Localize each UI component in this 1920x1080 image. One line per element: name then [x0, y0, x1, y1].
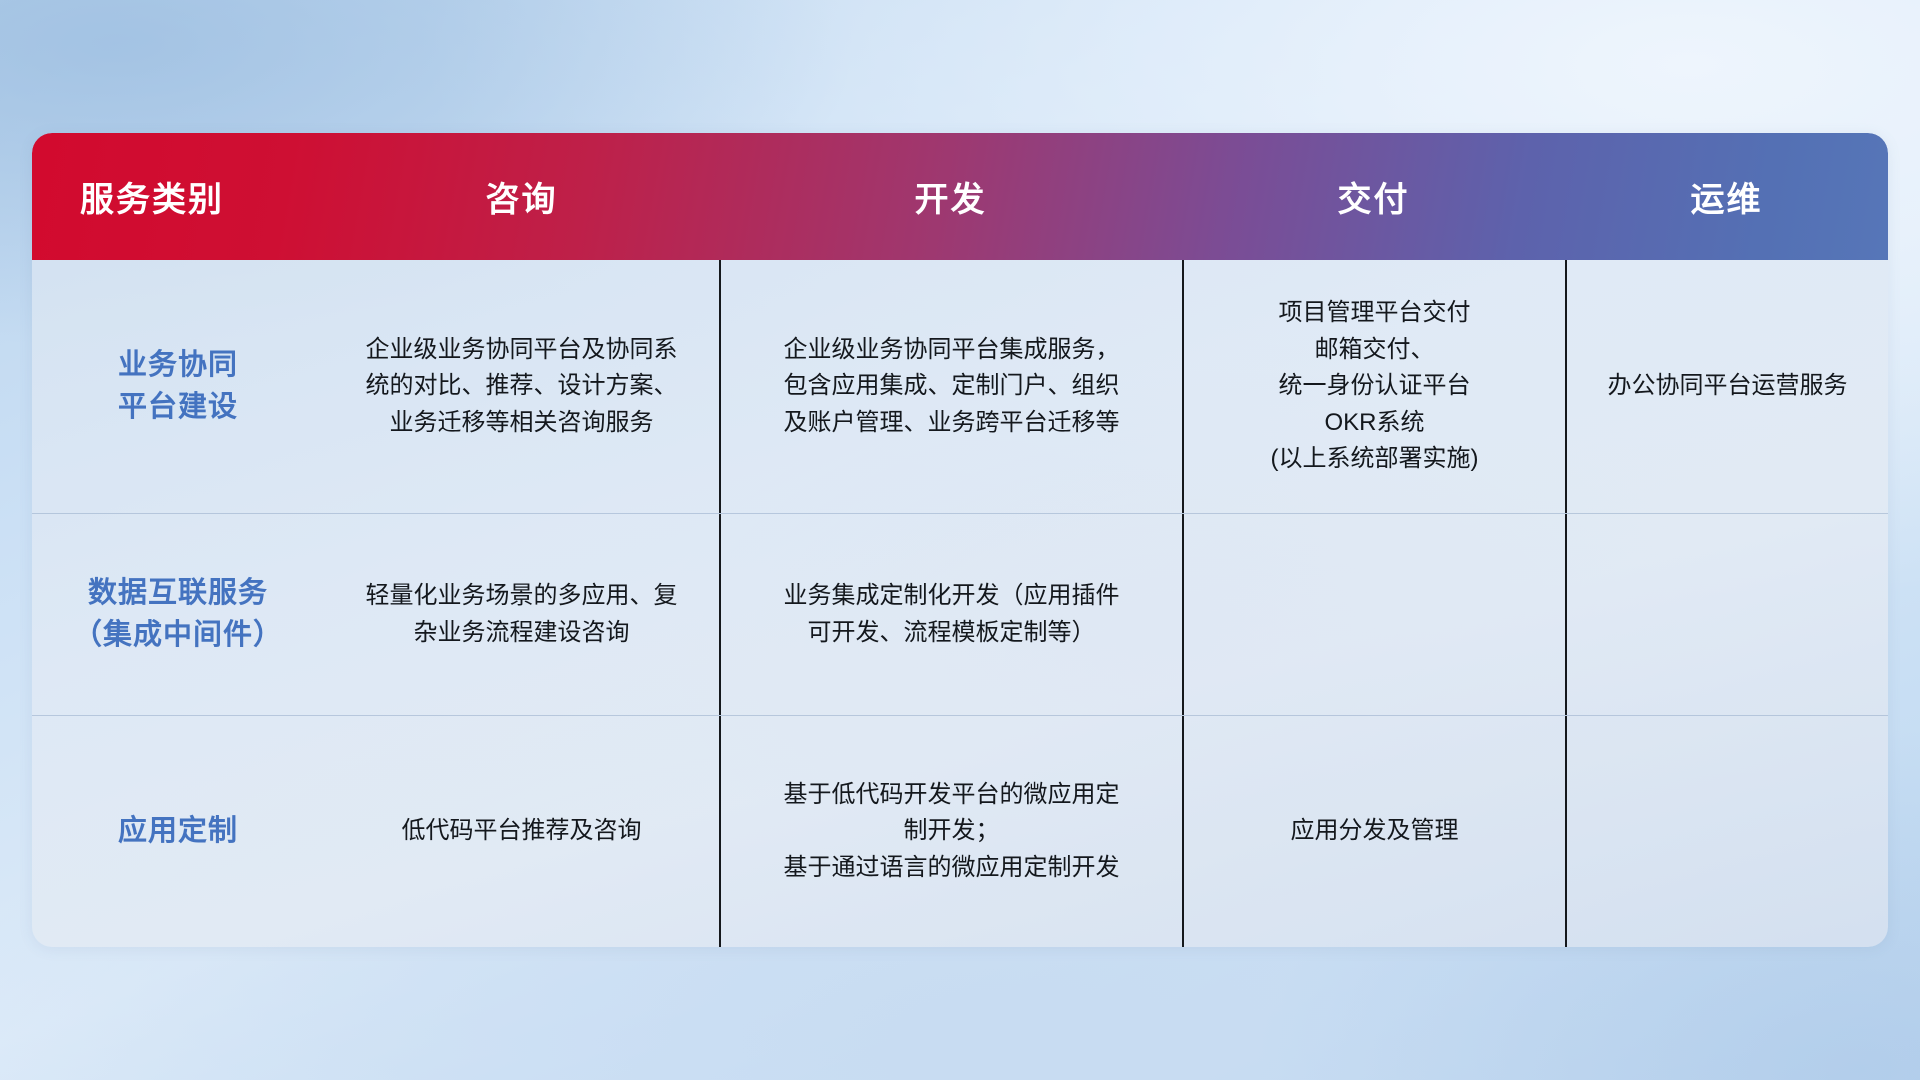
cell-operations: 办公协同平台运营服务	[1565, 260, 1888, 513]
cell-operations	[1565, 716, 1888, 947]
table-row: 数据互联服务 （集成中间件） 轻量化业务场景的多应用、复 杂业务流程建设咨询 业…	[32, 513, 1888, 715]
column-header-consulting: 咨询	[324, 133, 719, 260]
table-row: 应用定制 低代码平台推荐及咨询 基于低代码开发平台的微应用定 制开发； 基于通过…	[32, 715, 1888, 947]
cell-development: 企业级业务协同平台集成服务， 包含应用集成、定制门户、组织 及账户管理、业务跨平…	[719, 260, 1182, 513]
column-header-category: 服务类别	[32, 133, 324, 260]
column-header-delivery: 交付	[1182, 133, 1565, 260]
cell-operations	[1565, 514, 1888, 715]
column-header-operations: 运维	[1565, 133, 1888, 260]
cell-category: 应用定制	[32, 716, 324, 947]
cell-consulting: 低代码平台推荐及咨询	[324, 716, 719, 947]
cell-category: 数据互联服务 （集成中间件）	[32, 514, 324, 715]
cell-development: 业务集成定制化开发（应用插件 可开发、流程模板定制等）	[719, 514, 1182, 715]
table-body: 业务协同 平台建设 企业级业务协同平台及协同系 统的对比、推荐、设计方案、 业务…	[32, 260, 1888, 947]
cell-delivery: 项目管理平台交付 邮箱交付、 统一身份认证平台 OKR系统 (以上系统部署实施)	[1182, 260, 1565, 513]
column-header-development: 开发	[719, 133, 1182, 260]
cell-delivery: 应用分发及管理	[1182, 716, 1565, 947]
table-row: 业务协同 平台建设 企业级业务协同平台及协同系 统的对比、推荐、设计方案、 业务…	[32, 260, 1888, 513]
cell-consulting: 企业级业务协同平台及协同系 统的对比、推荐、设计方案、 业务迁移等相关咨询服务	[324, 260, 719, 513]
cell-consulting: 轻量化业务场景的多应用、复 杂业务流程建设咨询	[324, 514, 719, 715]
service-category-table: 服务类别 咨询 开发 交付 运维 业务协同 平台建设 企业级业务协同平台及协同系…	[32, 133, 1888, 947]
cell-category: 业务协同 平台建设	[32, 260, 324, 513]
table-header-row: 服务类别 咨询 开发 交付 运维	[32, 133, 1888, 260]
cell-delivery	[1182, 514, 1565, 715]
cell-development: 基于低代码开发平台的微应用定 制开发； 基于通过语言的微应用定制开发	[719, 716, 1182, 947]
